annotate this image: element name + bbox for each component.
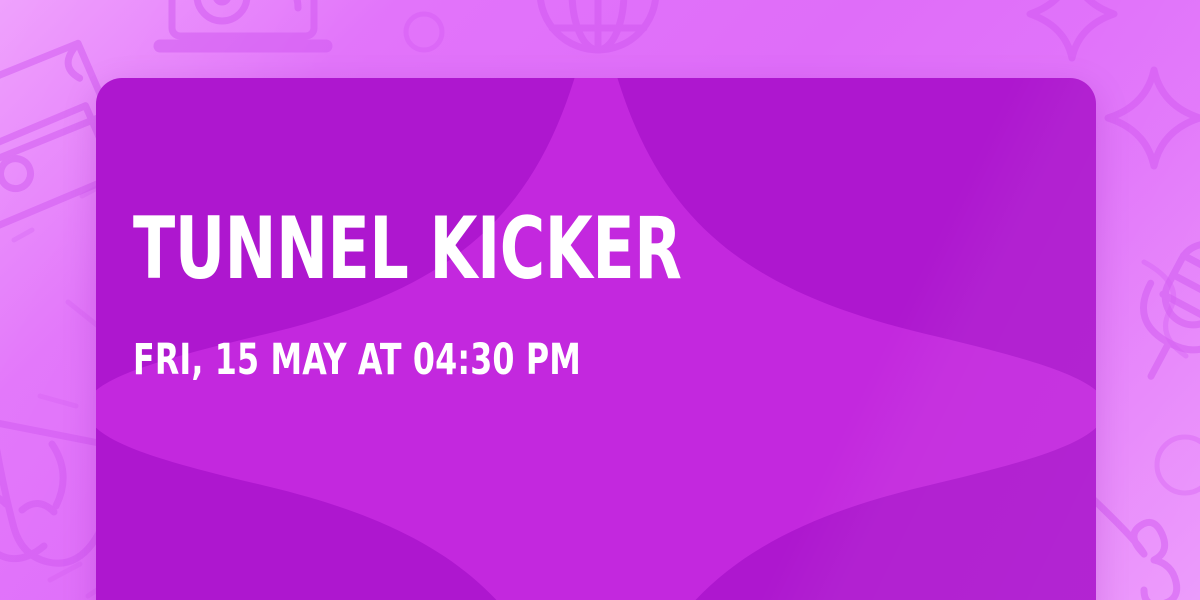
event-datetime: FRI, 15 MAY AT 04:30 PM (133, 339, 695, 382)
ribbon-icon (1090, 470, 1200, 600)
event-poster: TUNNEL KICKER FRI, 15 MAY AT 04:30 PM (0, 0, 1200, 600)
ribbon-icon (1140, 258, 1200, 388)
sparkle-icon (1100, 62, 1200, 174)
card-text-block: TUNNEL KICKER FRI, 15 MAY AT 04:30 PM (133, 208, 819, 382)
globe-icon (536, 0, 660, 80)
circle-icon (400, 8, 448, 56)
microphone-icon (1122, 230, 1200, 400)
sparkle-icon (1012, 0, 1132, 74)
circle-icon (1150, 430, 1200, 500)
event-title: TUNNEL KICKER (133, 208, 682, 291)
event-card[interactable]: TUNNEL KICKER FRI, 15 MAY AT 04:30 PM (96, 78, 1096, 600)
